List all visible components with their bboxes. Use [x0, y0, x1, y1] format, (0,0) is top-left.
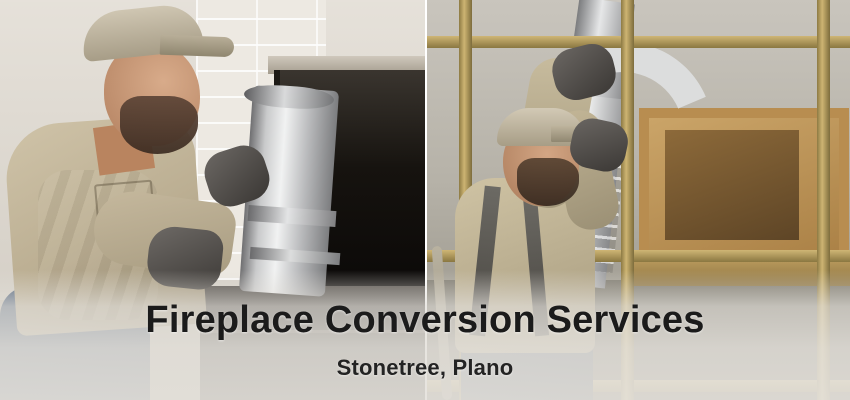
cap-brim-left: [160, 35, 235, 58]
promo-banner: Fireplace Conversion Services Stonetree,…: [0, 0, 850, 400]
banner-title: Fireplace Conversion Services: [0, 300, 850, 342]
banner-subtitle: Stonetree, Plano: [0, 356, 850, 380]
caption-block: Fireplace Conversion Services Stonetree,…: [0, 300, 850, 380]
scaffold-rail-top: [425, 36, 850, 48]
work-glove-lower-left: [145, 224, 225, 291]
